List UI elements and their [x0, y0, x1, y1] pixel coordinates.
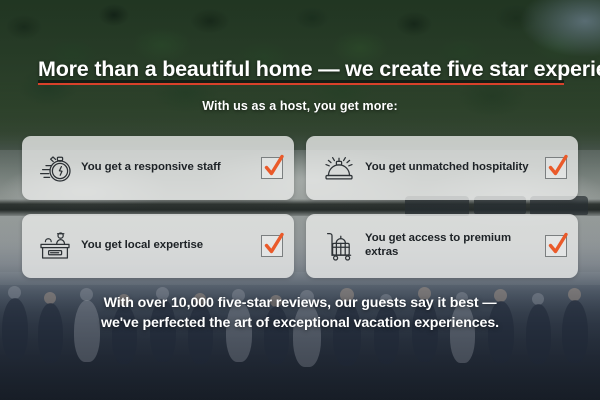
benefit-label: You get a responsive staff: [75, 161, 261, 175]
closing-statement: With over 10,000 five-star reviews, our …: [0, 293, 600, 333]
review-count: 10,000: [171, 295, 214, 311]
benefit-card-row: You get local expertise: [22, 214, 578, 278]
checked-checkbox-icon[interactable]: [261, 157, 283, 179]
statement-suffix: five-star reviews, our guests say it bes…: [214, 295, 497, 311]
checked-checkbox-icon[interactable]: [545, 157, 567, 179]
stopwatch-icon: [35, 148, 75, 188]
luggage-cart-icon: [319, 226, 359, 266]
checked-checkbox-icon[interactable]: [545, 235, 567, 257]
subheadline: With us as a host, you get more:: [0, 99, 600, 113]
benefit-card-row: You get a responsive staff: [22, 136, 578, 200]
benefit-card-responsive-staff[interactable]: You get a responsive staff: [22, 136, 294, 200]
benefit-label: You get access to premium extras: [359, 232, 545, 259]
statement-prefix: With over: [104, 295, 171, 311]
closing-statement-line-1: With over 10,000 five-star reviews, our …: [0, 293, 600, 313]
benefit-label: You get local expertise: [75, 239, 261, 253]
benefit-card-unmatched-hospitality[interactable]: You get unmatched hospitality: [306, 136, 578, 200]
accent-rule-line: [38, 83, 564, 85]
benefit-card-premium-extras[interactable]: You get access to premium extras: [306, 214, 578, 278]
accent-rule: [38, 80, 564, 87]
service-bell-icon: [319, 148, 359, 188]
benefit-card-local-expertise[interactable]: You get local expertise: [22, 214, 294, 278]
closing-statement-line-2: we've perfected the art of exceptional v…: [0, 313, 600, 333]
page-title: More than a beautiful home — we create f…: [38, 57, 600, 82]
checked-checkbox-icon[interactable]: [261, 235, 283, 257]
benefit-card-grid: You get a responsive staff: [22, 136, 578, 278]
benefit-label: You get unmatched hospitality: [359, 161, 545, 175]
reception-desk-icon: [35, 226, 75, 266]
